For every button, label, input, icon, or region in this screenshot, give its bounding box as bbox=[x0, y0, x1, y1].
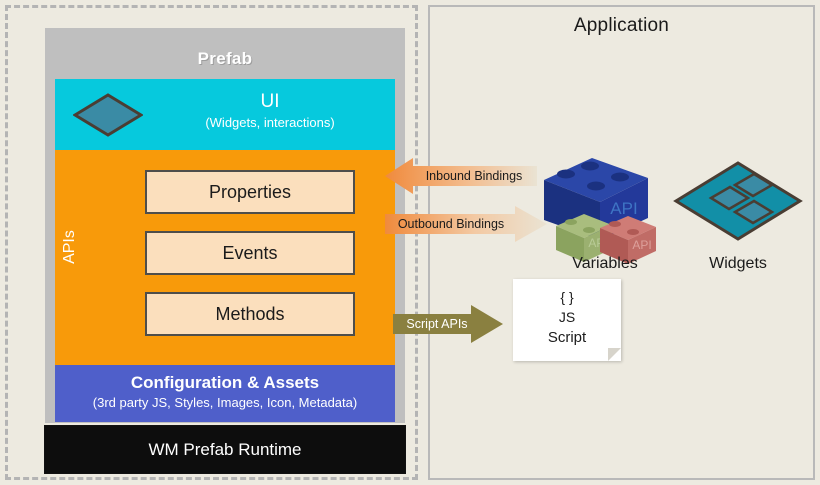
widgets-label: Widgets bbox=[668, 255, 808, 273]
script-apis-arrow: Script APIs bbox=[393, 305, 503, 343]
prefab-region: Prefab UI (Widgets, interactions) APIs P… bbox=[5, 5, 418, 480]
js-braces: { } bbox=[513, 288, 621, 307]
outbound-bindings-arrow: Outbound Bindings bbox=[385, 206, 547, 242]
ui-subtitle: (Widgets, interactions) bbox=[145, 114, 395, 132]
api-item-methods[interactable]: Methods bbox=[145, 292, 355, 336]
widgets-diamond-icon bbox=[673, 160, 803, 242]
script-label: Script bbox=[513, 327, 621, 349]
js-script-note-text: { } JS Script bbox=[513, 288, 621, 349]
diamond-icon bbox=[73, 93, 143, 137]
prefab-container: Prefab UI (Widgets, interactions) APIs P… bbox=[45, 28, 405, 423]
svg-text:API: API bbox=[632, 238, 651, 252]
configuration-title: Configuration & Assets bbox=[55, 372, 395, 394]
apis-vertical-label: APIs bbox=[61, 219, 79, 275]
apis-layer: APIs Properties Events Methods bbox=[55, 150, 395, 365]
api-item-events[interactable]: Events bbox=[145, 231, 355, 275]
prefab-title: Prefab bbox=[45, 49, 405, 69]
configuration-subtitle: (3rd party JS, Styles, Images, Icon, Met… bbox=[55, 394, 395, 412]
variables-label: Variables bbox=[520, 255, 690, 273]
ui-layer: UI (Widgets, interactions) bbox=[55, 79, 395, 150]
application-title: Application bbox=[430, 15, 813, 37]
api-item-properties[interactable]: Properties bbox=[145, 170, 355, 214]
svg-text:API: API bbox=[610, 199, 637, 218]
js-label: JS bbox=[513, 307, 621, 327]
diagram-canvas: Prefab UI (Widgets, interactions) APIs P… bbox=[0, 0, 820, 485]
ui-text-group: UI (Widgets, interactions) bbox=[145, 90, 395, 132]
configuration-layer: Configuration & Assets (3rd party JS, St… bbox=[55, 365, 395, 422]
js-script-note: { } JS Script bbox=[513, 279, 621, 361]
inbound-bindings-arrow: Inbound Bindings bbox=[385, 158, 537, 194]
wm-prefab-runtime-bar: WM Prefab Runtime bbox=[44, 425, 406, 474]
variables-blocks: API API API bbox=[540, 152, 670, 272]
note-fold-corner bbox=[608, 348, 621, 361]
ui-title: UI bbox=[145, 90, 395, 114]
